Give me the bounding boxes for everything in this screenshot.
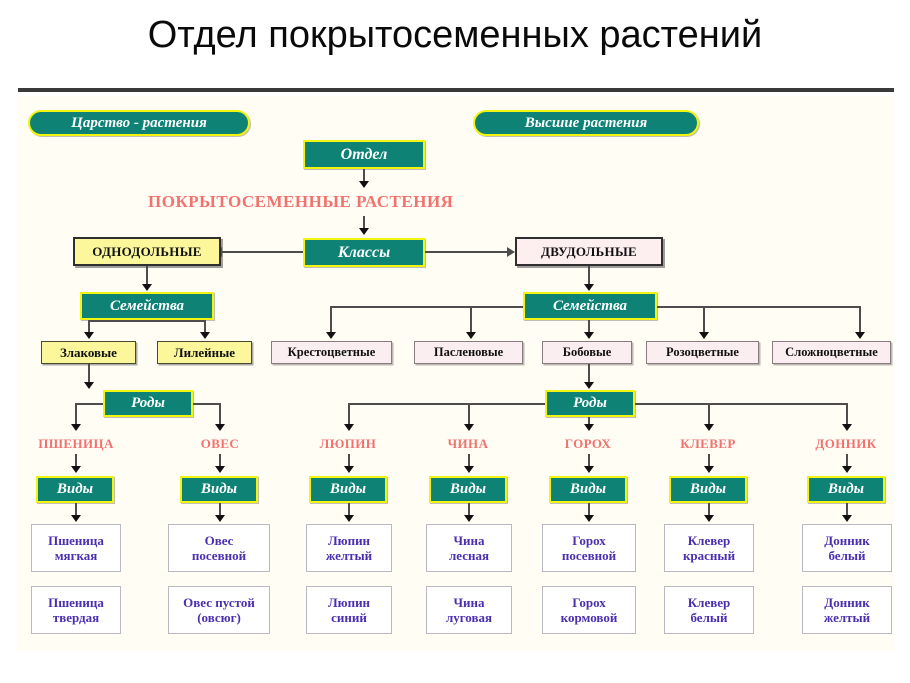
arrow-di-fam-2 bbox=[466, 332, 476, 339]
arrow-di-genus-1 bbox=[344, 424, 354, 431]
branch-dicot-fam-right bbox=[657, 306, 861, 308]
species-line2: желтый bbox=[824, 610, 870, 625]
species-line1: Горох bbox=[572, 595, 606, 610]
branch-di-fam-5 bbox=[859, 306, 861, 334]
rank-species-5-label: Виды bbox=[690, 481, 726, 498]
species-line2: красный bbox=[683, 548, 735, 563]
species-line1: Овес bbox=[205, 533, 234, 548]
banner-kingdom-label: Царство - растения bbox=[71, 115, 207, 132]
arrow-mono-genus-1 bbox=[71, 424, 81, 431]
family-dicot-3: Розоцветные bbox=[646, 341, 759, 364]
arrow-classes-right bbox=[507, 247, 515, 257]
branch-families-monocot bbox=[88, 320, 206, 322]
species-line2: посевной bbox=[192, 548, 246, 563]
arrow-zlak-down bbox=[84, 382, 94, 389]
arrow-name-down bbox=[359, 228, 369, 235]
rank-species-0: Виды bbox=[36, 476, 114, 503]
arrow-mono-fam-1 bbox=[84, 332, 94, 339]
family-dicot-3-label: Розоцветные bbox=[666, 345, 739, 360]
species-line1: Клевер bbox=[688, 533, 731, 548]
species-box-1-0: Овес посевной bbox=[168, 524, 270, 572]
slide-root: Отдел покрытосеменных растений Царство -… bbox=[0, 0, 910, 683]
family-dicot-0-label: Крестоцветные bbox=[288, 345, 376, 360]
family-dicot-4-label: Сложноцветные bbox=[785, 345, 878, 360]
rank-species-1-label: Виды bbox=[201, 481, 237, 498]
family-monocot-1-label: Лилейные bbox=[174, 345, 235, 361]
branch-mono-genus-right bbox=[193, 403, 221, 405]
species-line2: посевной bbox=[562, 548, 616, 563]
rank-species-2-label: Виды bbox=[330, 481, 366, 498]
rank-species-3-label: Виды bbox=[450, 481, 486, 498]
branch-di-fam-1 bbox=[330, 306, 332, 334]
arrow-species-2-down bbox=[344, 515, 354, 522]
connector-classes-right bbox=[425, 251, 507, 253]
species-line2: белый bbox=[690, 610, 727, 625]
species-line2: твердая bbox=[53, 610, 99, 625]
species-line1: Донник bbox=[824, 595, 869, 610]
rank-genera-monocot-label: Роды bbox=[131, 395, 165, 412]
species-line1: Клевер bbox=[688, 595, 731, 610]
branch-mono-genus-left bbox=[75, 403, 103, 405]
arrow-species-0-down bbox=[71, 515, 81, 522]
genus-label-6: ДОННИК bbox=[796, 436, 896, 452]
arrow-genus-0-down bbox=[71, 466, 81, 473]
species-box-0-1: Пшеница твердая bbox=[31, 586, 121, 634]
rank-species-1: Виды bbox=[180, 476, 258, 503]
rank-classes: Классы bbox=[303, 238, 425, 267]
arrow-species-6-down bbox=[842, 515, 852, 522]
genus-label-2: ЛЮПИН bbox=[298, 436, 398, 452]
arrow-dicot-down bbox=[584, 284, 594, 291]
arrow-genus-5-down bbox=[704, 466, 714, 473]
rank-classes-label: Классы bbox=[338, 244, 390, 262]
species-line1: Овес пустой bbox=[183, 595, 255, 610]
species-box-2-1: Люпин синий bbox=[306, 586, 392, 634]
branch-di-genus-5 bbox=[846, 403, 848, 426]
rank-genera-monocot: Роды bbox=[103, 390, 193, 417]
species-box-5-1: Клевер белый bbox=[664, 586, 754, 634]
species-line1: Чина bbox=[453, 595, 484, 610]
genus-label-0: ПШЕНИЦА bbox=[26, 436, 126, 452]
connector-dicot-down bbox=[588, 266, 590, 286]
title-divider bbox=[18, 88, 894, 92]
rank-species-4: Виды bbox=[549, 476, 627, 503]
genus-label-1: ОВЕС bbox=[170, 436, 270, 452]
branch-di-genus-2 bbox=[468, 403, 470, 426]
species-box-4-0: Горох посевной bbox=[542, 524, 636, 572]
rank-division: Отдел bbox=[303, 140, 425, 169]
genus-label-5: КЛЕВЕР bbox=[658, 436, 758, 452]
arrow-monocot-down bbox=[142, 284, 152, 291]
species-line2: кормовой bbox=[561, 610, 618, 625]
arrow-di-genus-4 bbox=[704, 424, 714, 431]
family-dicot-0: Крестоцветные bbox=[271, 341, 392, 364]
species-line1: Пшеница bbox=[48, 533, 104, 548]
species-box-3-1: Чина луговая bbox=[426, 586, 512, 634]
connector-bobovye-down bbox=[588, 364, 590, 384]
species-line2: лесная bbox=[449, 548, 489, 563]
arrow-di-fam-5 bbox=[855, 332, 865, 339]
species-line2: луговая bbox=[446, 610, 492, 625]
branch-di-genus-4 bbox=[708, 403, 710, 426]
rank-species-0-label: Виды bbox=[57, 481, 93, 498]
page-title: Отдел покрытосеменных растений bbox=[0, 14, 910, 57]
arrow-species-3-down bbox=[464, 515, 474, 522]
branch-dicot-genus-left bbox=[348, 403, 545, 405]
rank-families-monocot: Семейства bbox=[80, 292, 214, 320]
family-dicot-2-label: Бобовые bbox=[563, 345, 612, 360]
species-box-2-0: Люпин желтый bbox=[306, 524, 392, 572]
species-line1: Люпин bbox=[328, 533, 370, 548]
division-name: ПОКРЫТОСЕМЕННЫЕ РАСТЕНИЯ bbox=[148, 192, 453, 212]
species-box-3-0: Чина лесная bbox=[426, 524, 512, 572]
species-box-5-0: Клевер красный bbox=[664, 524, 754, 572]
class-monocot-label: ОДНОДОЛЬНЫЕ bbox=[92, 244, 202, 260]
arrow-genus-2-down bbox=[344, 466, 354, 473]
arrow-genus-4-down bbox=[584, 466, 594, 473]
rank-species-6: Виды bbox=[807, 476, 885, 503]
class-dicot: ДВУДОЛЬНЫЕ bbox=[515, 237, 663, 266]
connector-classes-left bbox=[221, 251, 303, 253]
banner-higher-plants: Высшие растения bbox=[473, 110, 699, 136]
rank-families-monocot-label: Семейства bbox=[110, 298, 184, 315]
branch-mono-genus-2 bbox=[219, 403, 221, 426]
arrow-di-genus-3 bbox=[584, 424, 594, 431]
species-line2: белый bbox=[828, 548, 865, 563]
arrow-division-down bbox=[359, 181, 369, 188]
rank-species-2: Виды bbox=[309, 476, 387, 503]
species-line1: Чина bbox=[453, 533, 484, 548]
branch-di-genus-1 bbox=[348, 403, 350, 426]
banner-kingdom: Царство - растения bbox=[28, 110, 250, 136]
rank-families-dicot: Семейства bbox=[523, 292, 657, 320]
family-dicot-2: Бобовые bbox=[542, 341, 632, 364]
species-box-1-1: Овес пустой (овсюг) bbox=[168, 586, 270, 634]
arrow-species-1-down bbox=[215, 515, 225, 522]
genus-label-3: ЧИНА bbox=[418, 436, 518, 452]
family-monocot-0-label: Злаковые bbox=[60, 345, 117, 361]
arrow-di-fam-3 bbox=[584, 332, 594, 339]
rank-division-label: Отдел bbox=[341, 146, 388, 164]
species-line2: (овсюг) bbox=[197, 610, 241, 625]
banner-higher-plants-label: Высшие растения bbox=[525, 115, 648, 132]
species-line1: Пшеница bbox=[48, 595, 104, 610]
genus-label-4: ГОРОХ bbox=[538, 436, 638, 452]
arrow-bobovye-down bbox=[584, 382, 594, 389]
class-monocot: ОДНОДОЛЬНЫЕ bbox=[73, 237, 221, 266]
arrow-mono-genus-2 bbox=[215, 424, 225, 431]
branch-di-fam-2 bbox=[470, 306, 472, 334]
rank-families-dicot-label: Семейства bbox=[553, 298, 627, 315]
species-box-0-0: Пшеница мягкая bbox=[31, 524, 121, 572]
connector-zlak-down bbox=[88, 364, 90, 384]
rank-genera-dicot: Роды bbox=[545, 390, 635, 417]
arrow-genus-1-down bbox=[215, 466, 225, 473]
arrow-species-4-down bbox=[584, 515, 594, 522]
branch-dicot-fam-left bbox=[330, 306, 523, 308]
species-box-6-0: Донник белый bbox=[802, 524, 892, 572]
arrow-di-genus-2 bbox=[464, 424, 474, 431]
connector-monocot-down bbox=[146, 266, 148, 286]
species-line1: Горох bbox=[572, 533, 606, 548]
arrow-genus-6-down bbox=[842, 466, 852, 473]
species-line2: желтый bbox=[326, 548, 372, 563]
branch-mono-genus-1 bbox=[75, 403, 77, 426]
species-box-4-1: Горох кормовой bbox=[542, 586, 636, 634]
branch-dicot-genus-right bbox=[635, 403, 848, 405]
arrow-di-fam-4 bbox=[699, 332, 709, 339]
arrow-mono-fam-2 bbox=[200, 332, 210, 339]
class-dicot-label: ДВУДОЛЬНЫЕ bbox=[541, 244, 637, 260]
family-monocot-1: Лилейные bbox=[157, 341, 252, 364]
species-line2: синий bbox=[331, 610, 367, 625]
branch-di-fam-4 bbox=[703, 306, 705, 334]
diagram-panel: Царство - растения Высшие растения Отдел… bbox=[18, 96, 894, 651]
arrow-di-genus-5 bbox=[842, 424, 852, 431]
arrow-genus-3-down bbox=[464, 466, 474, 473]
family-dicot-1: Пасленовые bbox=[414, 341, 523, 364]
species-line1: Люпин bbox=[328, 595, 370, 610]
arrow-species-5-down bbox=[704, 515, 714, 522]
rank-species-6-label: Виды bbox=[828, 481, 864, 498]
rank-species-4-label: Виды bbox=[570, 481, 606, 498]
rank-species-5: Виды bbox=[669, 476, 747, 503]
arrow-di-fam-1 bbox=[326, 332, 336, 339]
family-dicot-1-label: Пасленовые bbox=[434, 345, 503, 360]
family-monocot-0: Злаковые bbox=[41, 341, 136, 364]
family-dicot-4: Сложноцветные bbox=[772, 341, 891, 364]
rank-species-3: Виды bbox=[429, 476, 507, 503]
species-line1: Донник bbox=[824, 533, 869, 548]
rank-genera-dicot-label: Роды bbox=[573, 395, 607, 412]
species-box-6-1: Донник желтый bbox=[802, 586, 892, 634]
species-line2: мягкая bbox=[55, 548, 98, 563]
